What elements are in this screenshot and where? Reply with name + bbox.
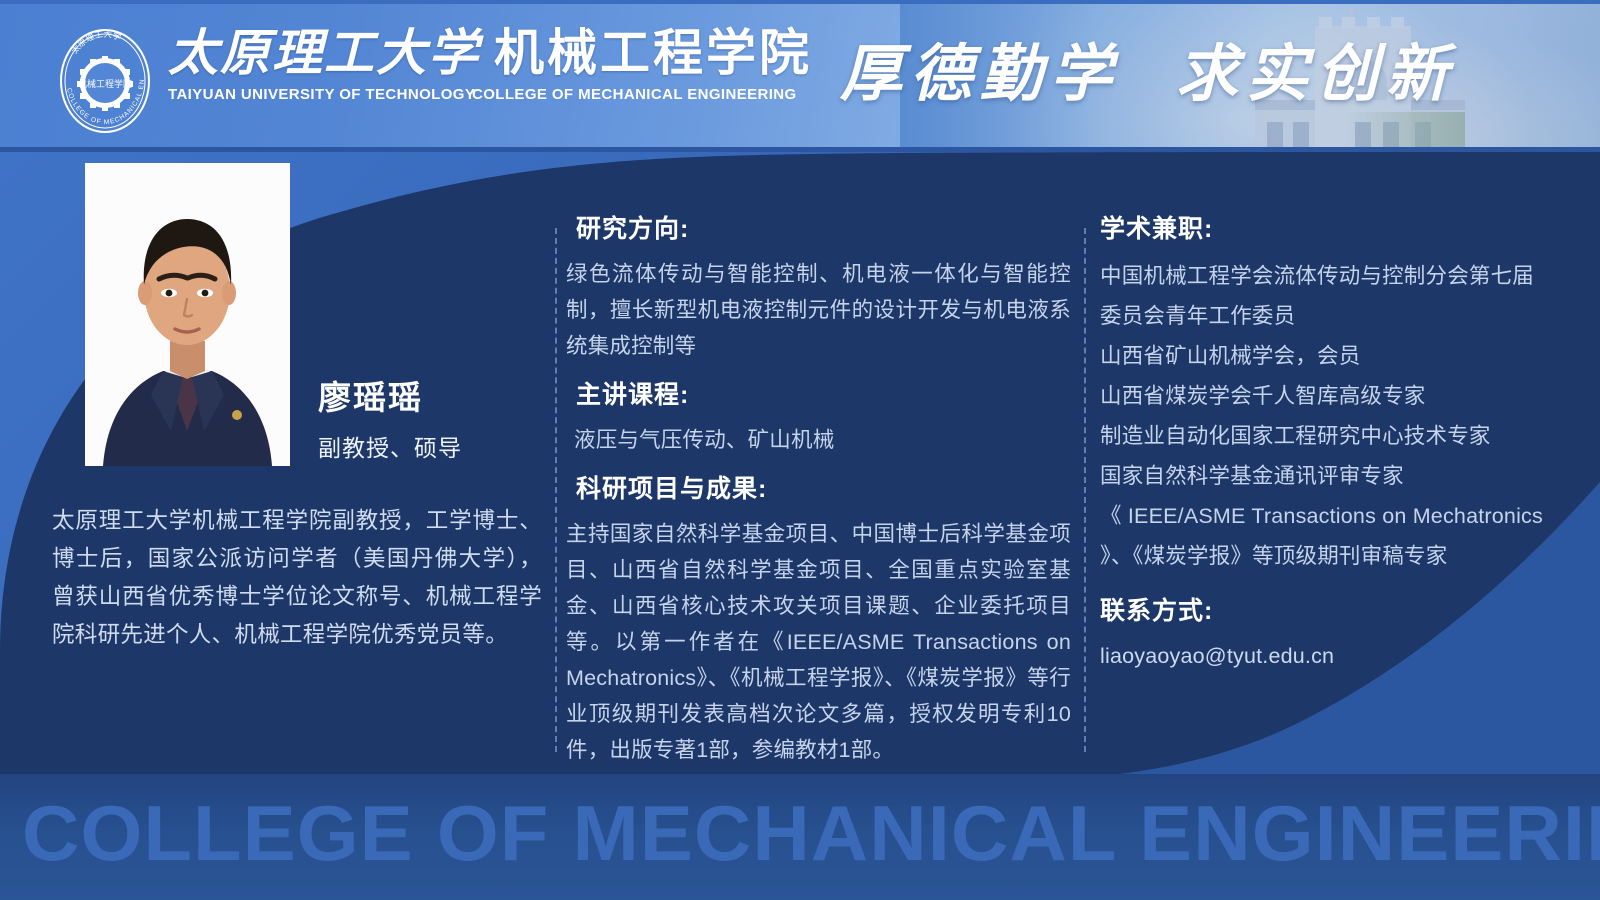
column-divider-right bbox=[1084, 228, 1086, 752]
list-item: 山西省矿山机械学会，会员 bbox=[1100, 336, 1550, 376]
page-footer: COLLEGE OF MECHANICAL ENGINEERING bbox=[0, 774, 1600, 900]
university-emblem-icon: 机械工程学院 太原理工大学 COLLEGE OF MECHANICAL ENGI… bbox=[52, 26, 158, 136]
courses-body: 液压与气压传动、矿山机械 bbox=[566, 422, 1071, 458]
professor-name: 廖瑶瑶 bbox=[318, 378, 538, 418]
header-cn-line: 太原理工大学机械工程学院 bbox=[168, 24, 768, 82]
college-name-en: COLLEGE OF MECHANICAL ENGINEERING bbox=[472, 86, 797, 103]
header-titles: 太原理工大学机械工程学院 TAIYUAN UNIVERSITY OF TECHN… bbox=[168, 24, 768, 132]
research-direction-heading: 研究方向: bbox=[566, 212, 1071, 246]
projects-body: 主持国家自然科学基金项目、中国博士后科学基金项目、山西省自然科学基金项目、全国重… bbox=[566, 516, 1071, 768]
professor-bio: 太原理工大学机械工程学院副教授，工学博士、博士后，国家公派访问学者（美国丹佛大学… bbox=[52, 502, 542, 654]
motto-right: 求实创新 bbox=[1176, 37, 1456, 110]
professor-rank: 副教授、硕导 bbox=[318, 432, 558, 464]
poster-root: 机械工程学院 太原理工大学 COLLEGE OF MECHANICAL ENGI… bbox=[0, 0, 1600, 900]
contact-email[interactable]: liaoyaoyao@tyut.edu.cn bbox=[1100, 638, 1550, 674]
footer-title: COLLEGE OF MECHANICAL ENGINEERING bbox=[22, 784, 1600, 882]
portrait-photo bbox=[85, 163, 290, 466]
motto-left: 厚德勤学 bbox=[840, 37, 1120, 110]
svg-text:机械工程学院: 机械工程学院 bbox=[78, 78, 132, 90]
svg-text:太原理工大学: 太原理工大学 bbox=[69, 29, 123, 56]
academic-roles-heading: 学术兼职: bbox=[1100, 212, 1550, 246]
university-name-cn: 太原理工大学 bbox=[168, 23, 480, 82]
projects-heading: 科研项目与成果: bbox=[566, 472, 1071, 506]
list-item: 《 IEEE/ASME Transactions on Mechatronics… bbox=[1100, 496, 1550, 576]
academic-roles-list: 中国机械工程学会流体传动与控制分会第七届委员会青年工作委员 山西省矿山机械学会，… bbox=[1100, 256, 1550, 576]
list-item: 国家自然科学基金通讯评审专家 bbox=[1100, 456, 1550, 496]
university-name-en: TAIYUAN UNIVERSITY OF TECHNOLOGY bbox=[168, 86, 426, 103]
university-motto: 厚德勤学求实创新 bbox=[840, 22, 1500, 132]
list-item: 制造业自动化国家工程研究中心技术专家 bbox=[1100, 416, 1550, 456]
courses-heading: 主讲课程: bbox=[566, 378, 1071, 412]
middle-column: 研究方向: 绿色流体传动与智能控制、机电液一体化与智能控制，擅长新型机电液控制元… bbox=[566, 212, 1071, 782]
header-en-line: TAIYUAN UNIVERSITY OF TECHNOLOGY COLLEGE… bbox=[168, 86, 768, 103]
list-item: 中国机械工程学会流体传动与控制分会第七届委员会青年工作委员 bbox=[1100, 256, 1550, 336]
list-item: 山西省煤炭学会千人智库高级专家 bbox=[1100, 376, 1550, 416]
page-header: 机械工程学院 太原理工大学 COLLEGE OF MECHANICAL ENGI… bbox=[0, 0, 1600, 152]
header-top-strip bbox=[0, 0, 1600, 4]
contact-heading: 联系方式: bbox=[1100, 594, 1550, 628]
research-direction-body: 绿色流体传动与智能控制、机电液一体化与智能控制，擅长新型机电液控制元件的设计开发… bbox=[566, 256, 1071, 364]
right-column: 学术兼职: 中国机械工程学会流体传动与控制分会第七届委员会青年工作委员 山西省矿… bbox=[1100, 212, 1550, 674]
column-divider-left bbox=[555, 228, 557, 752]
college-name-cn: 机械工程学院 bbox=[494, 24, 812, 82]
